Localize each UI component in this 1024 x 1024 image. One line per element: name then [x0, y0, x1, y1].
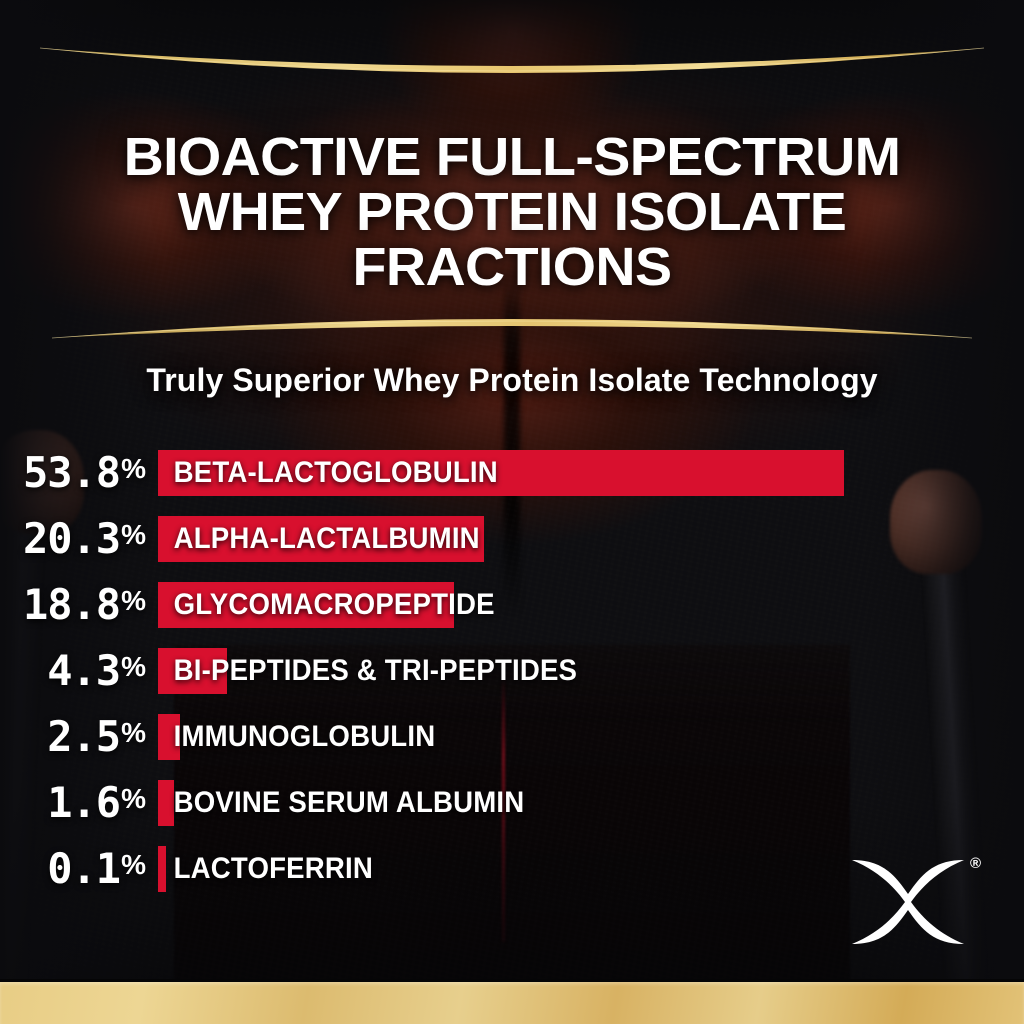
row-percentage-number: 1.6 — [47, 778, 120, 827]
registered-trademark-symbol: ® — [970, 856, 981, 871]
chart-row: 18.8% GLYCOMACROPEPTIDE — [0, 572, 1024, 638]
row-label: BI-PEPTIDES & TRI-PEPTIDES — [158, 654, 577, 688]
row-bar-container: IMMUNOGLOBULIN — [158, 704, 1024, 770]
row-bar-container: ALPHA-LACTALBUMIN — [158, 506, 1024, 572]
page-title-line-2: WHEY PROTEIN ISOLATE — [32, 185, 992, 240]
protein-fractions-infographic: BIOACTIVE FULL-SPECTRUM WHEY PROTEIN ISO… — [0, 0, 1024, 1024]
bottom-gold-bar — [0, 982, 1024, 1024]
row-label: BOVINE SERUM ALBUMIN — [158, 786, 524, 820]
x-logo-icon — [848, 854, 968, 950]
percent-symbol: % — [121, 519, 146, 550]
row-percentage-number: 2.5 — [47, 712, 120, 761]
row-label: GLYCOMACROPEPTIDE — [158, 588, 495, 622]
row-percentage: 18.8% — [0, 584, 158, 626]
percent-symbol: % — [121, 717, 146, 748]
row-percentage: 53.8% — [0, 452, 158, 494]
brand-logo: ® — [848, 854, 968, 950]
row-percentage-number: 18.8 — [23, 580, 120, 629]
percent-symbol: % — [121, 651, 146, 682]
page-title-line-1: BIOACTIVE FULL-SPECTRUM — [32, 130, 992, 185]
row-label: ALPHA-LACTALBUMIN — [158, 522, 480, 556]
row-percentage: 2.5% — [0, 716, 158, 758]
row-percentage-number: 4.3 — [47, 646, 120, 695]
row-percentage: 0.1% — [0, 848, 158, 890]
chart-row: 4.3% BI-PEPTIDES & TRI-PEPTIDES — [0, 638, 1024, 704]
row-label: IMMUNOGLOBULIN — [158, 720, 435, 754]
percent-symbol: % — [121, 585, 146, 616]
chart-row: 53.8% BETA-LACTOGLOBULIN — [0, 440, 1024, 506]
page-title: BIOACTIVE FULL-SPECTRUM WHEY PROTEIN ISO… — [0, 130, 1024, 295]
row-label: BETA-LACTOGLOBULIN — [158, 456, 498, 490]
row-bar-container: GLYCOMACROPEPTIDE — [158, 572, 1024, 638]
row-percentage: 1.6% — [0, 782, 158, 824]
chart-row: 20.3% ALPHA-LACTALBUMIN — [0, 506, 1024, 572]
row-bar-container: BI-PEPTIDES & TRI-PEPTIDES — [158, 638, 1024, 704]
row-bar-container: BOVINE SERUM ALBUMIN — [158, 770, 1024, 836]
page-title-line-3: FRACTIONS — [32, 240, 992, 295]
percent-symbol: % — [121, 849, 146, 880]
row-percentage-number: 0.1 — [47, 844, 120, 893]
row-label: LACTOFERRIN — [158, 852, 373, 886]
percent-symbol: % — [121, 783, 146, 814]
row-percentage: 20.3% — [0, 518, 158, 560]
protein-fractions-bar-chart: 53.8% BETA-LACTOGLOBULIN 20.3% ALPHA-LAC… — [0, 440, 1024, 902]
subtitle: Truly Superior Whey Protein Isolate Tech… — [0, 362, 1024, 399]
chart-row: 2.5% IMMUNOGLOBULIN — [0, 704, 1024, 770]
row-percentage-number: 53.8 — [23, 448, 120, 497]
row-percentage-number: 20.3 — [23, 514, 120, 563]
row-percentage: 4.3% — [0, 650, 158, 692]
chart-row: 1.6% BOVINE SERUM ALBUMIN — [0, 770, 1024, 836]
row-bar-container: BETA-LACTOGLOBULIN — [158, 440, 1024, 506]
percent-symbol: % — [121, 453, 146, 484]
